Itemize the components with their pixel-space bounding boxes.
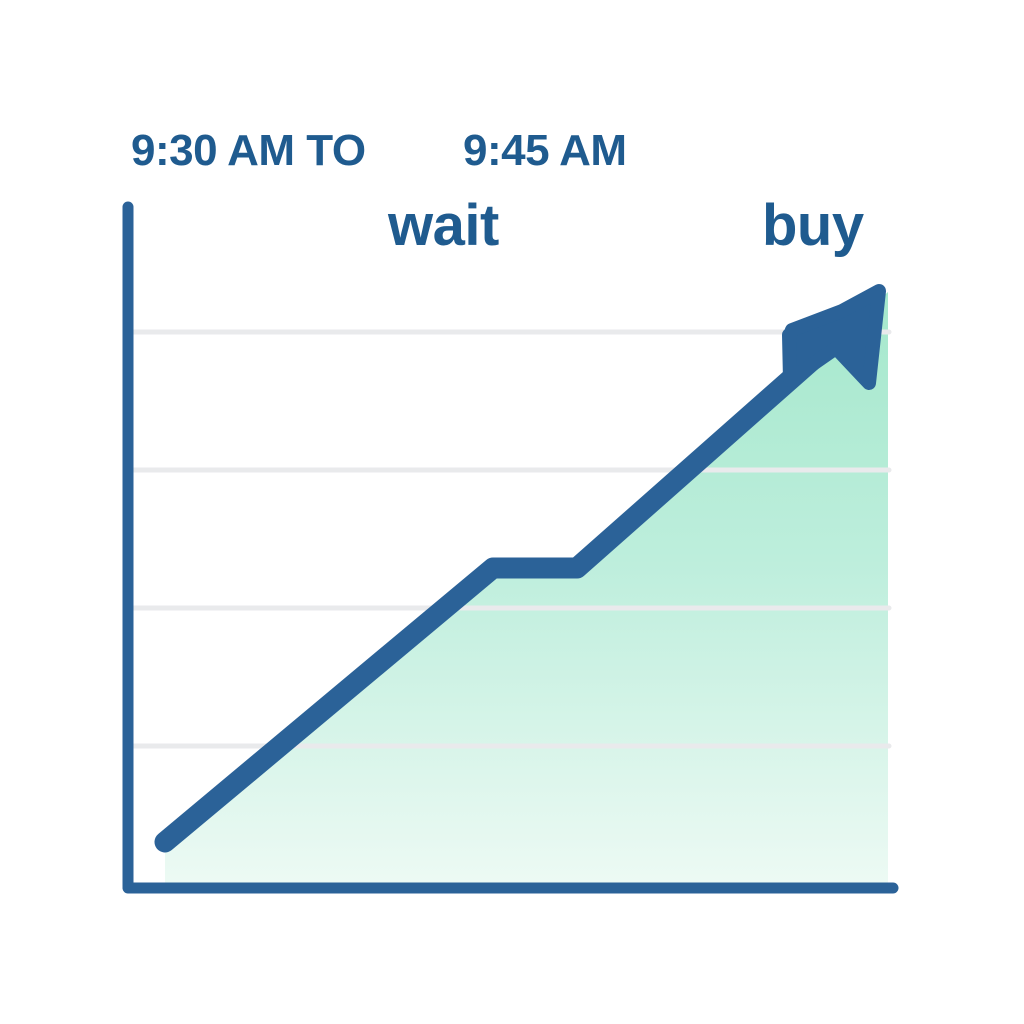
- label-time-end: 9:45 AM: [463, 126, 627, 176]
- label-action-buy: buy: [762, 192, 864, 259]
- label-time-start: 9:30 AM TO: [131, 126, 366, 176]
- label-action-wait: wait: [388, 192, 499, 259]
- illustration-canvas: 9:30 AM TO 9:45 AM wait buy: [0, 0, 1024, 1024]
